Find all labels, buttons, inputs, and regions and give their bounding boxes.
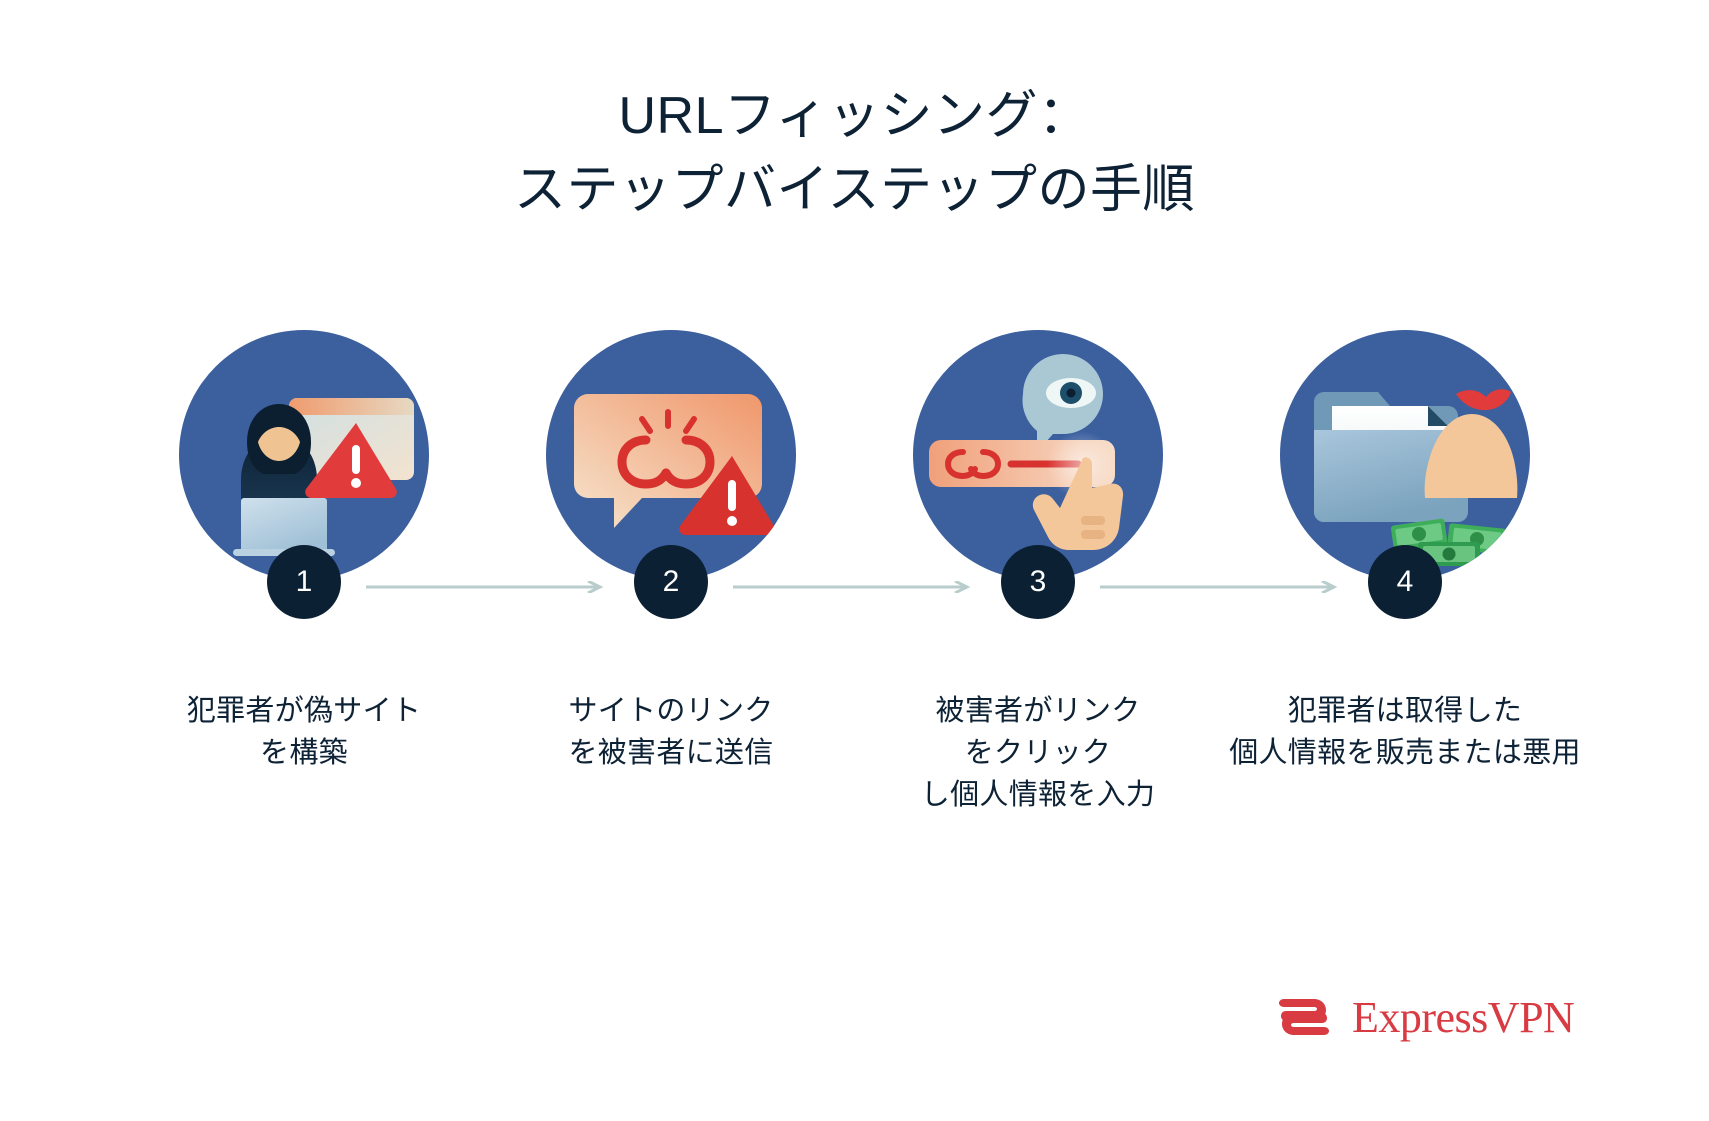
step-1-to-2-arrow xyxy=(366,581,610,593)
step-2-to-3-arrow xyxy=(733,581,977,593)
brand-name: ExpressVPN xyxy=(1352,992,1574,1043)
step-4: 4 犯罪者は取得した 個人情報を販売または悪用 xyxy=(1222,330,1589,774)
expressvpn-logo-icon xyxy=(1272,985,1336,1049)
step-1-number-badge: 1 xyxy=(267,545,341,619)
brand-logo: ExpressVPN xyxy=(1272,985,1574,1049)
step-2: 2 サイトのリンク を被害者に送信 xyxy=(488,330,855,774)
step-4-caption: 犯罪者は取得した 個人情報を販売または悪用 xyxy=(1229,690,1581,774)
page-title-line-2: ステップバイステップの手順 xyxy=(0,154,1709,228)
step-2-caption: サイトのリンク を被害者に送信 xyxy=(568,690,773,774)
folder-documents-money-icon xyxy=(1280,330,1530,580)
step-1-illustration xyxy=(179,330,429,580)
page-title-line-1: URLフィッシング： xyxy=(0,80,1709,154)
step-4-number-badge: 4 xyxy=(1368,545,1442,619)
hacker-laptop-warning-icon xyxy=(179,330,429,580)
step-3: 3 被害者がリンク をクリック し個人情報を入力 xyxy=(855,330,1222,816)
step-4-illustration xyxy=(1280,330,1530,580)
step-3-to-4-arrow xyxy=(1100,581,1344,593)
page-title: URLフィッシング： ステップバイステップの手順 xyxy=(0,80,1709,228)
message-broken-link-warning-icon xyxy=(546,330,796,580)
step-1: 1 犯罪者が偽サイト を構築 xyxy=(121,330,488,774)
steps-row: 1 犯罪者が偽サイト を構築 xyxy=(0,330,1709,816)
step-2-number-badge: 2 xyxy=(634,545,708,619)
step-1-caption: 犯罪者が偽サイト を構築 xyxy=(187,690,421,774)
url-bar-click-eye-icon xyxy=(913,330,1163,580)
step-2-illustration xyxy=(546,330,796,580)
step-3-caption: 被害者がリンク をクリック し個人情報を入力 xyxy=(921,690,1155,816)
step-3-illustration xyxy=(913,330,1163,580)
step-3-number-badge: 3 xyxy=(1001,545,1075,619)
